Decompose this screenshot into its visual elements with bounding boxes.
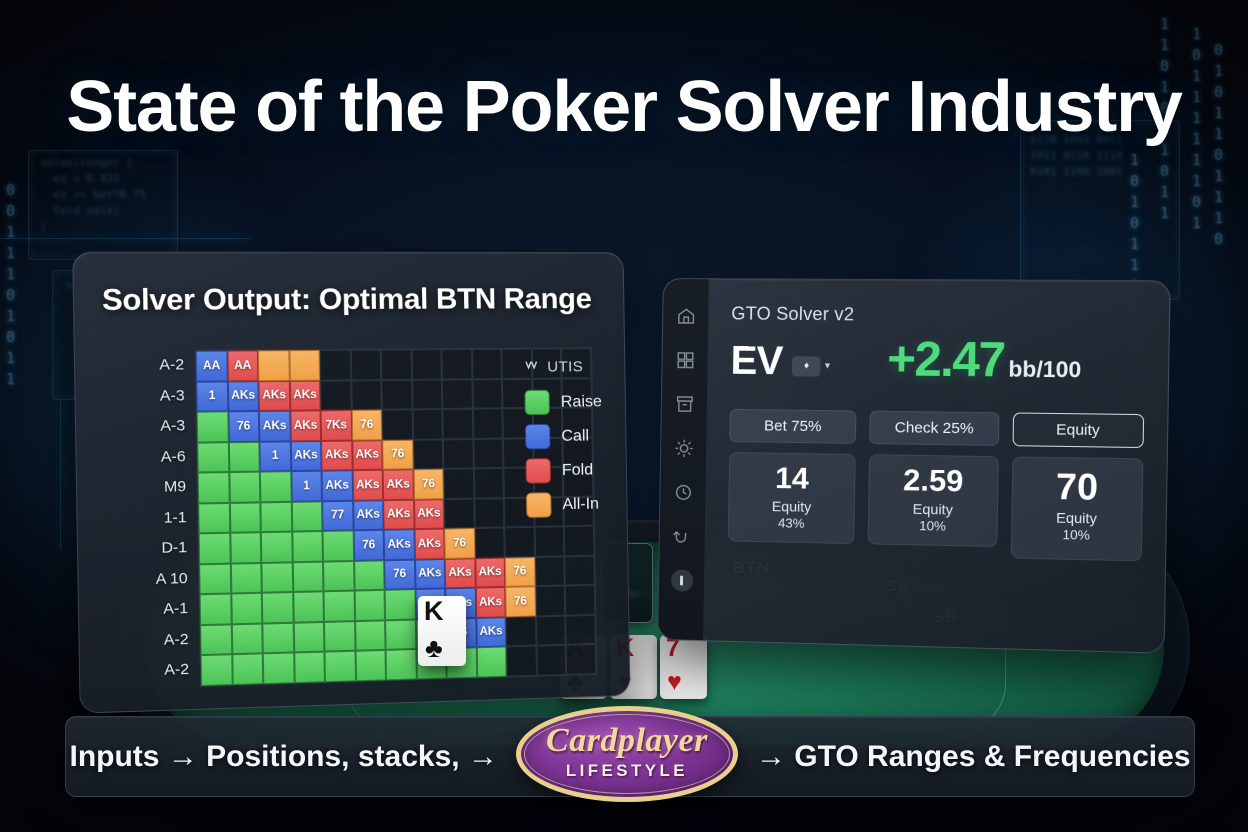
- hand-cell: [444, 498, 475, 528]
- hand-cell: [564, 526, 594, 556]
- ev-unit: bb/100: [1008, 356, 1081, 383]
- hand-cell: [411, 349, 442, 379]
- hand-cell[interactable]: [199, 533, 231, 564]
- gto-solver-panel: GTO Solver v2 EV ▾ +2.47 bb/100 Bet 75%C…: [657, 278, 1171, 654]
- hand-cell[interactable]: [385, 619, 416, 650]
- ev-label: EV: [730, 341, 782, 382]
- hand-cell[interactable]: [229, 472, 261, 503]
- hand-cell[interactable]: 1: [196, 381, 228, 412]
- hand-cell[interactable]: AA: [196, 351, 228, 382]
- cardplayer-lifestyle-logo: Cardplayer LIFESTYLE: [516, 706, 738, 802]
- hand-cell[interactable]: 76: [351, 410, 382, 440]
- home-icon[interactable]: [675, 305, 697, 327]
- range-legend: UTIS RaiseCallFoldAll-In: [524, 357, 631, 527]
- hand-cell[interactable]: [230, 562, 262, 593]
- hand-cell: [474, 527, 504, 557]
- hand-cell[interactable]: [197, 442, 229, 473]
- legend-item[interactable]: Call: [525, 423, 631, 450]
- hand-cell[interactable]: [230, 532, 262, 563]
- hand-cell: [381, 379, 412, 409]
- gto-sidebar: [658, 279, 710, 640]
- hand-cell: [320, 380, 351, 410]
- stat-name: Equity: [876, 499, 991, 517]
- hand-cell[interactable]: 76: [413, 469, 444, 499]
- caption-left-text: Inputs → Positions, stacks, →: [70, 740, 498, 774]
- hand-cell: [536, 645, 566, 676]
- hand-cell: [412, 379, 443, 409]
- hand-cell[interactable]: AKs: [352, 470, 383, 501]
- hand-cell: [441, 349, 472, 379]
- stat-value: 14: [736, 462, 849, 496]
- legend-item-label: Call: [561, 427, 589, 445]
- stat-value: 2.59: [876, 464, 991, 498]
- hand-cell[interactable]: [289, 350, 320, 380]
- standing-card-suit: ♣: [425, 635, 443, 662]
- hand-cell: [504, 527, 534, 557]
- hand-cell[interactable]: [355, 620, 386, 651]
- logo-name: Cardplayer: [546, 722, 708, 760]
- hand-cell: [506, 646, 536, 677]
- hand-cell: [413, 439, 444, 469]
- hand-cell: [474, 498, 504, 528]
- hand-cell[interactable]: AKs: [414, 529, 445, 560]
- hand-cell: [412, 409, 443, 439]
- legend-item-label: Raise: [561, 393, 602, 411]
- hand-cell: [381, 349, 412, 379]
- hand-cell: [566, 644, 596, 674]
- hand-cell[interactable]: [263, 652, 294, 683]
- stat-name: Equity: [1018, 508, 1135, 527]
- chevron-down-icon[interactable]: ▾: [825, 361, 830, 372]
- stat-card: 70Equity10%: [1010, 456, 1143, 561]
- legend-swatch-allin: [526, 492, 552, 518]
- hand-cell[interactable]: [386, 649, 417, 680]
- hand-cell[interactable]: [355, 650, 386, 681]
- grid-row-label: A 10: [100, 563, 199, 596]
- hand-cell[interactable]: [385, 589, 416, 620]
- hand-cell[interactable]: AKs: [259, 411, 290, 442]
- hand-cell[interactable]: [324, 651, 355, 682]
- hand-cell[interactable]: AKs: [475, 587, 505, 618]
- caption-right-text: → GTO Ranges & Frequencies: [756, 740, 1191, 774]
- hand-cell[interactable]: [200, 593, 232, 624]
- stat-sub: 10%: [875, 517, 990, 534]
- hand-cell[interactable]: 76: [382, 439, 413, 469]
- legend-swatch-call: [525, 424, 551, 449]
- grid-row-label: A-2: [96, 350, 195, 381]
- hand-cell[interactable]: [476, 646, 506, 677]
- hand-cell[interactable]: AKs: [353, 500, 384, 531]
- solver-output-panel: Solver Output: Optimal BTN Range A-2A-3A…: [72, 252, 630, 714]
- solver-panel-heading: Solver Output: Optimal BTN Range: [102, 283, 592, 318]
- hand-cell[interactable]: [198, 502, 230, 533]
- hand-cell[interactable]: AKs: [414, 558, 445, 589]
- legend-item-label: Fold: [562, 461, 593, 480]
- hand-cell[interactable]: AKs: [383, 469, 414, 499]
- grid-row-label: A-2: [101, 654, 200, 687]
- legend-header-label: UTIS: [547, 358, 583, 375]
- hand-cell[interactable]: [262, 592, 293, 623]
- hand-cell[interactable]: 7Ks: [321, 410, 352, 440]
- dashboard-icon[interactable]: [674, 349, 696, 371]
- hand-cell: [473, 468, 503, 498]
- archive-icon[interactable]: [673, 393, 695, 415]
- hand-cell[interactable]: AKs: [227, 381, 259, 412]
- hand-cell: [506, 616, 536, 647]
- grid-row-label: A-3: [97, 380, 196, 411]
- hand-cell[interactable]: AKs: [384, 529, 415, 560]
- hand-cell[interactable]: [291, 501, 322, 532]
- hand-cell[interactable]: AKs: [321, 440, 352, 471]
- hand-cell[interactable]: 76: [505, 586, 535, 616]
- hand-cell[interactable]: [229, 502, 261, 533]
- gto-app-name: GTO Solver v2: [731, 303, 1146, 327]
- hand-cell: [351, 380, 382, 410]
- background-code-1: solve(range) { eq = 0.431 ev += bet*0.75…: [40, 155, 146, 235]
- ev-row: EV ▾ +2.47 bb/100: [730, 335, 1145, 388]
- hand-cell[interactable]: [200, 624, 232, 655]
- gto-tab[interactable]: Check 25%: [870, 411, 1000, 446]
- hand-cell: [382, 409, 413, 439]
- hand-cell[interactable]: AA: [227, 350, 259, 381]
- hand-cell: [350, 350, 381, 380]
- standing-card: K ♣: [418, 596, 466, 666]
- hand-cell[interactable]: 76: [505, 557, 535, 587]
- hand-cell[interactable]: AKs: [352, 440, 383, 470]
- ev-suit-chip[interactable]: [792, 356, 821, 376]
- grid-row-label: 1-1: [99, 502, 198, 534]
- legend-header: UTIS: [524, 357, 631, 376]
- stat-sub: 10%: [1018, 526, 1135, 544]
- legend-item[interactable]: Fold: [525, 457, 630, 484]
- hand-cell: [535, 556, 565, 586]
- gto-stats: 14Equity43%2.59Equity10%70Equity10%: [728, 452, 1144, 561]
- hand-cell[interactable]: [261, 562, 292, 593]
- check-icon: [524, 358, 538, 376]
- hand-cell[interactable]: AKs: [258, 380, 289, 411]
- hand-cell[interactable]: AKs: [445, 558, 476, 589]
- legend-swatch-raise: [524, 390, 550, 415]
- hand-cell[interactable]: AKs: [414, 499, 445, 529]
- hand-cell: [471, 349, 501, 379]
- page-title: State of the Poker Solver Industry: [0, 66, 1248, 148]
- hand-cell: [320, 350, 351, 380]
- hand-cell[interactable]: [228, 441, 260, 472]
- circuit-line-2: [60, 400, 61, 550]
- stat-name: Equity: [735, 497, 848, 515]
- hand-cell[interactable]: AKs: [289, 380, 320, 411]
- gto-body: GTO Solver v2 EV ▾ +2.47 bb/100 Bet 75%C…: [704, 279, 1169, 652]
- gto-tabs[interactable]: Bet 75%Check 25%Equity: [729, 409, 1144, 448]
- hand-cell: [534, 526, 564, 556]
- hand-cell[interactable]: [354, 560, 385, 591]
- hand-cell[interactable]: 1: [291, 471, 322, 502]
- binary-column-4: 0 0 1 1 1 0 1 0 1 1: [6, 180, 16, 390]
- hand-cell: [443, 468, 474, 498]
- grid-row-label: A-6: [98, 441, 197, 473]
- gto-tab[interactable]: Equity: [1012, 412, 1144, 448]
- screenshot-root: solve(range) { eq = 0.431 ev += bet*0.75…: [0, 0, 1248, 832]
- hand-cell[interactable]: [322, 530, 353, 561]
- standing-card-rank: K: [424, 598, 444, 625]
- caption-bar: Inputs → Positions, stacks, → Cardplayer…: [65, 716, 1195, 797]
- hand-cell[interactable]: [232, 653, 264, 684]
- legend-swatch-fold: [525, 458, 551, 484]
- legend-item[interactable]: All-In: [526, 491, 630, 518]
- hand-cell[interactable]: [198, 472, 230, 503]
- hand-cell: [472, 408, 502, 438]
- legend-item[interactable]: Raise: [524, 389, 630, 415]
- hand-cell[interactable]: 77: [322, 500, 353, 531]
- stat-card: 2.59Equity10%: [868, 454, 999, 546]
- stat-value: 70: [1019, 467, 1136, 508]
- gto-tab[interactable]: Bet 75%: [729, 409, 856, 444]
- info-icon[interactable]: [670, 569, 692, 592]
- hand-cell[interactable]: [293, 621, 324, 652]
- hand-cell[interactable]: [323, 560, 354, 591]
- hand-cell[interactable]: [201, 654, 233, 685]
- legend-items: RaiseCallFoldAll-In: [524, 389, 630, 518]
- hand-cell[interactable]: [199, 563, 231, 594]
- hand-cell[interactable]: [292, 561, 323, 592]
- board-card-suit: ♥: [667, 670, 682, 695]
- hand-cell[interactable]: [231, 593, 263, 624]
- hand-cell[interactable]: AKs: [290, 440, 321, 471]
- hand-cell: [564, 555, 594, 585]
- settings-icon[interactable]: [672, 437, 694, 459]
- hand-cell[interactable]: 1: [259, 441, 290, 472]
- hand-cell[interactable]: [258, 350, 289, 381]
- stat-sub: 43%: [735, 514, 848, 531]
- hand-cell[interactable]: [260, 501, 291, 532]
- grid-row-labels: A-2A-3A-3A-6M91-1D-1A 10A-1A-2A-2: [96, 350, 200, 688]
- hand-cell[interactable]: [293, 591, 324, 622]
- hand-cell: [442, 409, 473, 439]
- hand-cell: [536, 615, 566, 645]
- hand-cell: [472, 379, 502, 409]
- hand-cell[interactable]: [294, 652, 325, 683]
- clock-icon[interactable]: [672, 481, 694, 503]
- hand-cell[interactable]: [354, 590, 385, 621]
- hand-cell: [535, 586, 565, 616]
- hand-cell[interactable]: [323, 591, 354, 622]
- hand-cell[interactable]: [324, 621, 355, 652]
- hand-cell[interactable]: AKs: [322, 470, 353, 501]
- hand-cell[interactable]: 76: [353, 530, 384, 561]
- hand-cell[interactable]: AKs: [476, 617, 506, 648]
- hand-cell[interactable]: 76: [444, 528, 475, 558]
- hand-cell: [442, 379, 473, 409]
- hand-cell: [443, 438, 474, 468]
- hand-cell[interactable]: AKs: [475, 557, 505, 587]
- hand-cell[interactable]: [260, 471, 291, 502]
- hand-cell[interactable]: 76: [228, 411, 260, 442]
- stat-card: 14Equity43%: [728, 452, 856, 544]
- hand-cell[interactable]: AKs: [383, 499, 414, 530]
- grid-row-label: M9: [98, 472, 197, 504]
- hand-cell: [565, 614, 595, 644]
- hand-cell[interactable]: 76: [384, 559, 415, 590]
- grid-row-label: A-1: [100, 593, 199, 626]
- hand-cell[interactable]: AKs: [290, 410, 321, 441]
- board-card: 7♥: [660, 635, 707, 699]
- grid-row-label: A-3: [97, 411, 196, 443]
- hand-cell[interactable]: [197, 411, 229, 442]
- ev-value: +2.47: [887, 336, 1005, 386]
- hand-cell[interactable]: [261, 532, 292, 563]
- circuit-line-1: [0, 238, 250, 239]
- grid-row-label: A-2: [101, 624, 200, 657]
- undo-icon[interactable]: [671, 525, 693, 547]
- hand-cell[interactable]: [231, 623, 263, 654]
- grid-row-label: D-1: [99, 532, 198, 565]
- legend-item-label: All-In: [562, 495, 599, 514]
- hand-cell[interactable]: [292, 531, 323, 562]
- hand-cell: [473, 438, 503, 468]
- hand-cell: [565, 585, 595, 615]
- logo-subtitle: LIFESTYLE: [516, 761, 738, 781]
- hand-cell[interactable]: [262, 622, 293, 653]
